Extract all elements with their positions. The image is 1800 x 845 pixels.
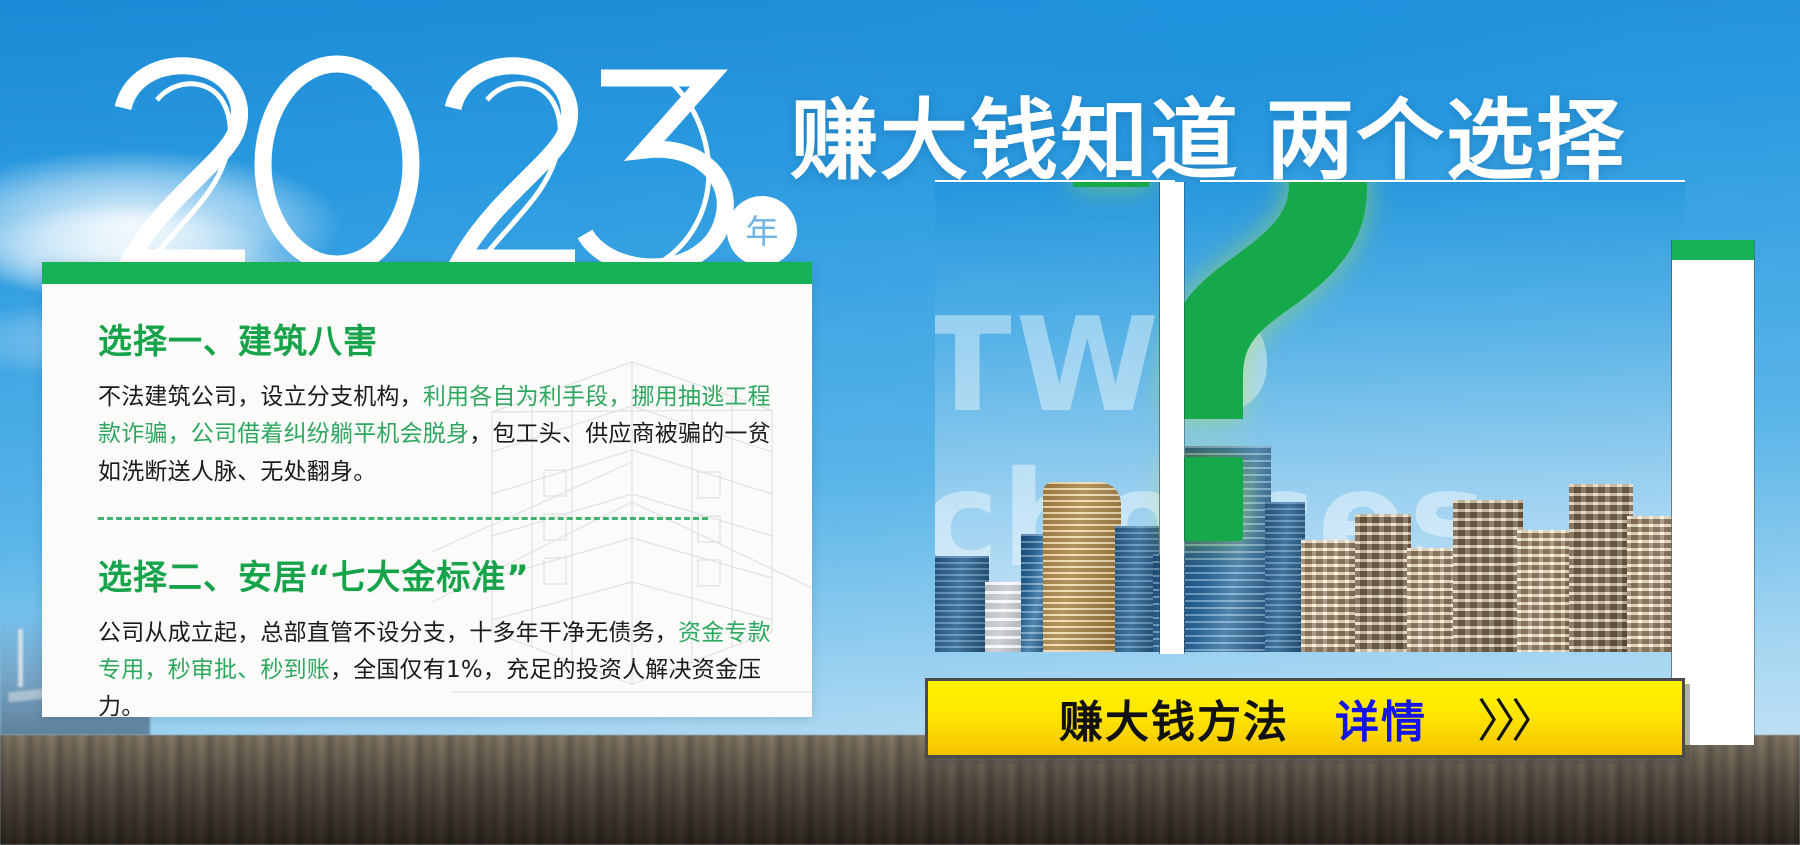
page-title: 赚大钱知道两个选择 — [790, 70, 1626, 197]
chevron-right-triple-icon: 〉〉〉 — [1477, 685, 1551, 751]
section-title-2: 选择二、安居“七大金标准” — [98, 550, 776, 599]
year-unit-label: 年 — [746, 215, 779, 248]
cta-primary-label: 赚大钱方法 — [1059, 686, 1289, 750]
building — [1569, 484, 1633, 652]
section-title-1: 选择一、建筑八害 — [98, 314, 776, 363]
building — [1407, 548, 1459, 652]
headline-part-1: 赚大钱知道 — [790, 89, 1240, 192]
section-divider — [98, 517, 708, 520]
cta-secondary-label: 详情 — [1335, 686, 1427, 750]
question-mark-icon — [1055, 182, 1385, 587]
building — [1517, 530, 1575, 652]
year-unit-badge: 年 — [727, 196, 797, 266]
section-body-2: 公司从成立起，总部直管不设分支，十多年干净无债务，资金专款专用，秒审批、秒到账，… — [98, 615, 776, 717]
promo-banner: 年 赚大钱知道两个选择 TWO choices — [0, 0, 1800, 845]
section-body-1: 不法建筑公司，设立分支机构，利用各自为利手段，挪用抽逃工程款诈骗，公司借着纠纷躺… — [98, 379, 776, 491]
right-photo-card: TWO choices — [935, 182, 1685, 652]
building — [1453, 500, 1523, 652]
text-run: 公司从成立起，总部直管不设分支，十多年干净无债务， — [98, 620, 678, 646]
building — [985, 582, 1025, 652]
right-accent-column-cap — [1672, 240, 1754, 260]
text-run: 不法建筑公司，设立分支机构， — [98, 384, 423, 410]
headline-part-2: 两个选择 — [1266, 89, 1626, 192]
cta-button[interactable]: 赚大钱方法 详情 〉〉〉 — [925, 678, 1685, 758]
right-accent-column — [1672, 240, 1754, 745]
content-card-cap — [42, 262, 812, 284]
vertical-divider — [1160, 182, 1184, 654]
building — [935, 556, 989, 652]
content-card: 选择一、建筑八害 不法建筑公司，设立分支机构，利用各自为利手段，挪用抽逃工程款诈… — [42, 262, 812, 717]
